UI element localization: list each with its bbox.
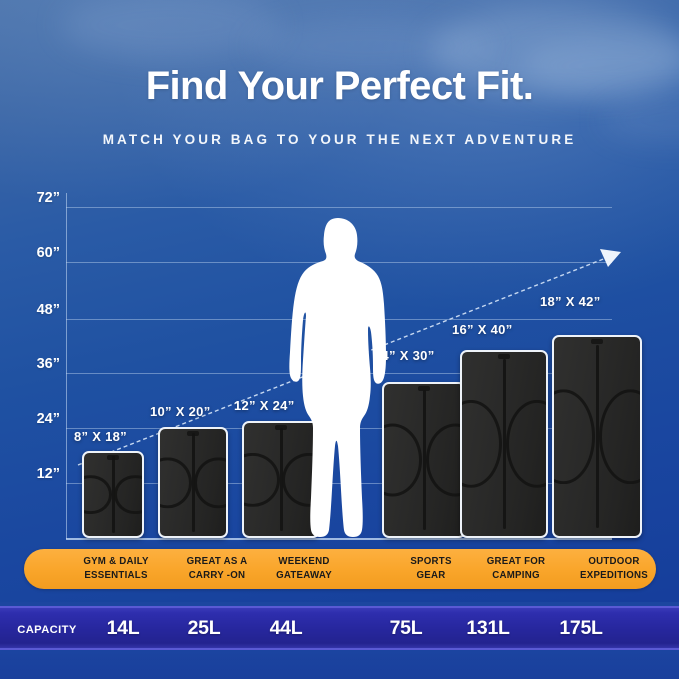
y-axis-tick-label: 60” <box>18 245 60 261</box>
capacity-label: CAPACITY <box>6 624 88 636</box>
bag-arc-left-icon <box>82 475 112 515</box>
x-axis-baseline <box>66 538 612 540</box>
bag-grip-icon <box>498 354 510 359</box>
bag-size-label: 18” X 42” <box>540 294 601 309</box>
y-axis-tick-label: 24” <box>18 411 60 427</box>
use-case-line-2: GATEAWAY <box>242 569 366 583</box>
bag-arc-left-icon <box>552 389 595 485</box>
gridline <box>66 207 612 208</box>
bag-size-label: 10” X 20” <box>150 404 211 419</box>
capacity-value: 25L <box>158 617 250 645</box>
y-axis-tick-label: 72” <box>18 190 60 206</box>
use-case-line-2: EXPEDITIONS <box>550 569 678 583</box>
bag-arc-right-icon <box>114 475 144 515</box>
bag-arc-right-icon <box>506 400 548 488</box>
y-axis-tick-label: 12” <box>18 466 60 482</box>
use-case-band: GYM & DAILYESSENTIALSGREAT AS ACARRY -ON… <box>24 549 656 589</box>
use-case-line-1: OUTDOOR <box>550 555 678 569</box>
bag-arc-left-icon <box>242 452 280 506</box>
infographic-canvas: Find Your Perfect Fit. MATCH YOUR BAG TO… <box>0 0 679 679</box>
bag-arc-left-icon <box>460 400 502 488</box>
y-axis-line <box>66 193 67 539</box>
bag-arc-right-icon <box>599 389 642 485</box>
bag-size-label: 8” X 18” <box>74 429 127 444</box>
bag-bar[interactable] <box>552 335 642 538</box>
bag-size-label: 16” X 40” <box>452 322 513 337</box>
capacity-value: 175L <box>528 617 634 645</box>
y-axis-tick-label: 36” <box>18 356 60 372</box>
capacity-value: 44L <box>238 617 334 645</box>
use-case-line-1: WEEKEND <box>242 555 366 569</box>
capacity-band: CAPACITY 14L25L44L75L131L175L <box>0 606 679 650</box>
bag-grip-icon <box>591 339 603 344</box>
capacity-value: 14L <box>78 617 168 645</box>
bag-bar[interactable] <box>460 350 548 538</box>
use-case-cell: WEEKENDGATEAWAY <box>242 555 366 585</box>
bag-bar[interactable] <box>82 451 144 538</box>
capacity-value: 131L <box>438 617 538 645</box>
y-axis-tick-label: 48” <box>18 302 60 318</box>
human-silhouette-icon <box>276 216 396 538</box>
bag-bar[interactable] <box>158 427 228 538</box>
bag-arc-right-icon <box>194 457 228 508</box>
bottom-strip <box>0 650 679 679</box>
bag-arc-left-icon <box>158 457 192 508</box>
use-case-cell: OUTDOOREXPEDITIONS <box>550 555 678 585</box>
